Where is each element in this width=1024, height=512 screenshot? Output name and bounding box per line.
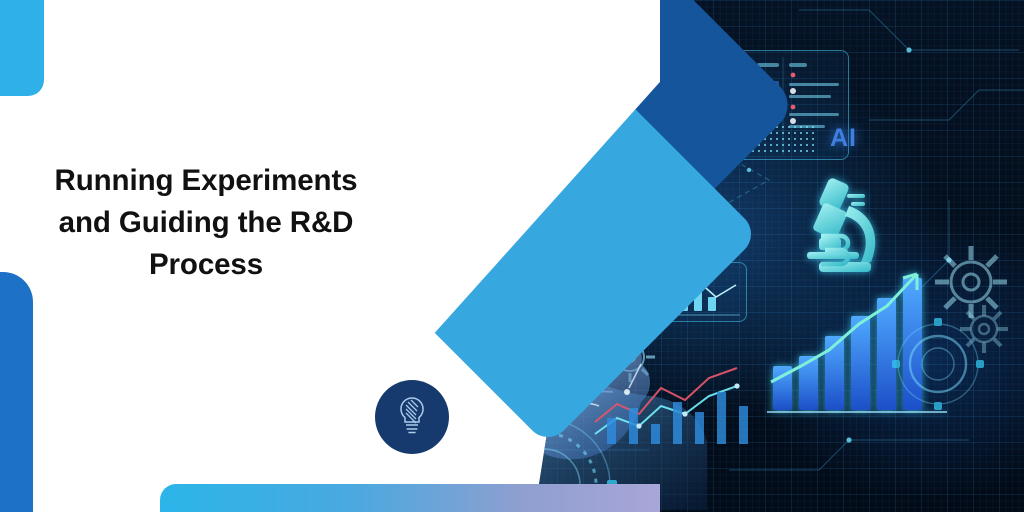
- title-line-1: Running Experiments: [55, 164, 358, 197]
- title-line-2: and Guiding the R&D: [59, 206, 354, 239]
- radar-dial-icon-2: [892, 318, 984, 410]
- lightbulb-badge: [375, 380, 449, 454]
- title-line-3: Process: [149, 248, 263, 281]
- lightbulb-icon: [395, 395, 429, 440]
- deco-top-left-rect: [0, 0, 44, 96]
- deco-bottom-gradient-bar: [160, 484, 660, 512]
- deco-bottom-left-rect: [0, 272, 33, 512]
- ai-label: AI: [830, 124, 857, 153]
- page-title: Running Experiments and Guiding the R&D …: [6, 160, 406, 286]
- banner-root: AI: [0, 0, 1024, 512]
